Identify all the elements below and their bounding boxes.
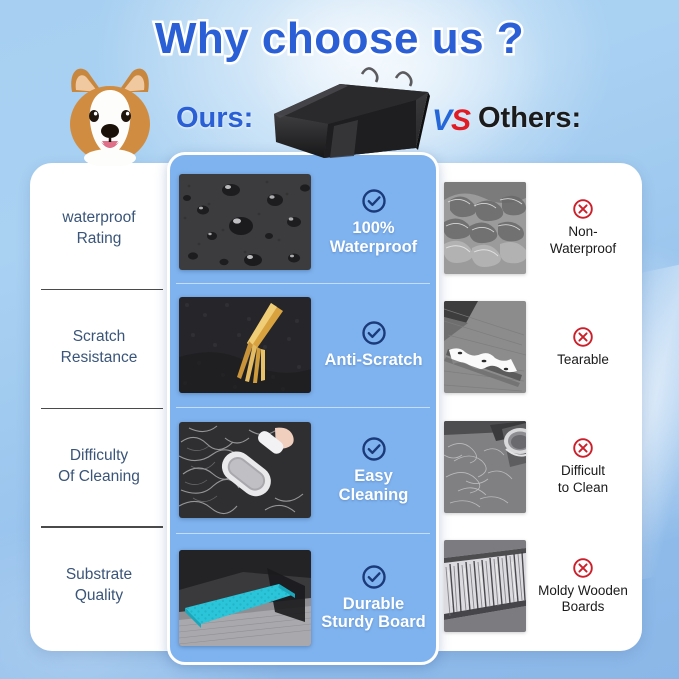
ours-line1: Durable <box>315 595 432 613</box>
ours-text: Durable Sturdy Board <box>311 564 436 632</box>
others-line1: Non- <box>528 224 638 240</box>
ours-row: 100% Waterproof <box>170 161 436 283</box>
ours-line1: Easy <box>315 467 432 485</box>
criteria-label-line2: Quality <box>75 586 123 607</box>
criteria-label-line1: Substrate <box>66 565 132 586</box>
others-text: Moldy Wooden Boards <box>526 557 640 616</box>
x-circle-icon <box>572 326 594 348</box>
criteria-label-line2: Rating <box>77 229 122 250</box>
vs-v-letter: V <box>432 104 451 137</box>
others-line2: Boards <box>528 599 638 615</box>
ours-text: 100% Waterproof <box>311 188 436 256</box>
others-line2: Waterproof <box>528 241 638 257</box>
criteria-label-line1: Scratch <box>73 327 126 348</box>
others-line1: Tearable <box>528 352 638 368</box>
soaked-wrinkled-gray-fabric-image <box>444 182 526 274</box>
others-text: Tearable <box>526 326 640 368</box>
ours-line1: 100% <box>315 219 432 237</box>
others-line1: Difficult <box>528 463 638 479</box>
torn-ripped-gray-fabric-image <box>444 301 526 393</box>
ours-column: 100% Waterproof <box>167 152 439 665</box>
check-circle-icon <box>361 188 387 214</box>
x-circle-icon <box>572 557 594 579</box>
x-circle-icon <box>572 437 594 459</box>
ours-row: Anti-Scratch <box>170 283 436 407</box>
others-heading: Others: <box>478 102 581 135</box>
water-droplets-on-black-fabric-image <box>179 174 311 270</box>
corgi-dog-icon <box>58 58 162 166</box>
criteria-row: Scratch Resistance <box>33 289 165 408</box>
page-title: Why choose us ? <box>0 14 679 64</box>
criteria-label-line2: Of Cleaning <box>58 467 140 488</box>
criteria-column: waterproof Rating Scratch Resistance Dif… <box>33 170 165 645</box>
check-circle-icon <box>361 320 387 346</box>
others-row: Difficult to Clean <box>440 407 640 527</box>
check-circle-icon <box>361 564 387 590</box>
others-column: Non- Waterproof <box>440 168 640 646</box>
criteria-row: waterproof Rating <box>33 170 165 289</box>
criteria-row: Difficulty Of Cleaning <box>33 408 165 527</box>
ours-text: Easy Cleaning <box>311 436 436 504</box>
ours-line2: Sturdy Board <box>315 613 432 631</box>
ours-row: Easy Cleaning <box>170 407 436 533</box>
others-row: Non- Waterproof <box>440 168 640 288</box>
others-line2: to Clean <box>528 480 638 496</box>
teal-honeycomb-support-board-image <box>179 550 311 646</box>
criteria-label-line1: Difficulty <box>70 446 128 467</box>
ours-line1: Anti-Scratch <box>315 351 432 369</box>
ours-row: Durable Sturdy Board <box>170 533 436 662</box>
car-seat-cover-icon <box>266 62 436 166</box>
ours-line2: Cleaning <box>315 486 432 504</box>
lint-brush-removing-pet-hair-image <box>179 422 311 518</box>
others-row: Tearable <box>440 288 640 408</box>
others-line1: Moldy Wooden <box>528 583 638 599</box>
ours-heading: Ours: <box>176 102 253 135</box>
ours-text: Anti-Scratch <box>311 320 436 369</box>
moldy-fibrous-wooden-board-image <box>444 540 526 632</box>
criteria-row: Substrate Quality <box>33 526 165 645</box>
vs-s-letter: S <box>451 104 470 137</box>
x-circle-icon <box>572 198 594 220</box>
others-text: Non- Waterproof <box>526 198 640 257</box>
infographic-stage: Why choose us ? Ours: VS Others: <box>0 0 679 679</box>
gold-fork-on-black-leather-image <box>179 297 311 393</box>
check-circle-icon <box>361 436 387 462</box>
others-row: Moldy Wooden Boards <box>440 527 640 647</box>
others-text: Difficult to Clean <box>526 437 640 496</box>
vs-badge: VS <box>432 104 470 138</box>
dirty-scratched-surface-with-bucket-image <box>444 421 526 513</box>
criteria-label-line2: Resistance <box>61 348 138 369</box>
ours-line2: Waterproof <box>315 238 432 256</box>
criteria-label-line1: waterproof <box>62 208 135 229</box>
